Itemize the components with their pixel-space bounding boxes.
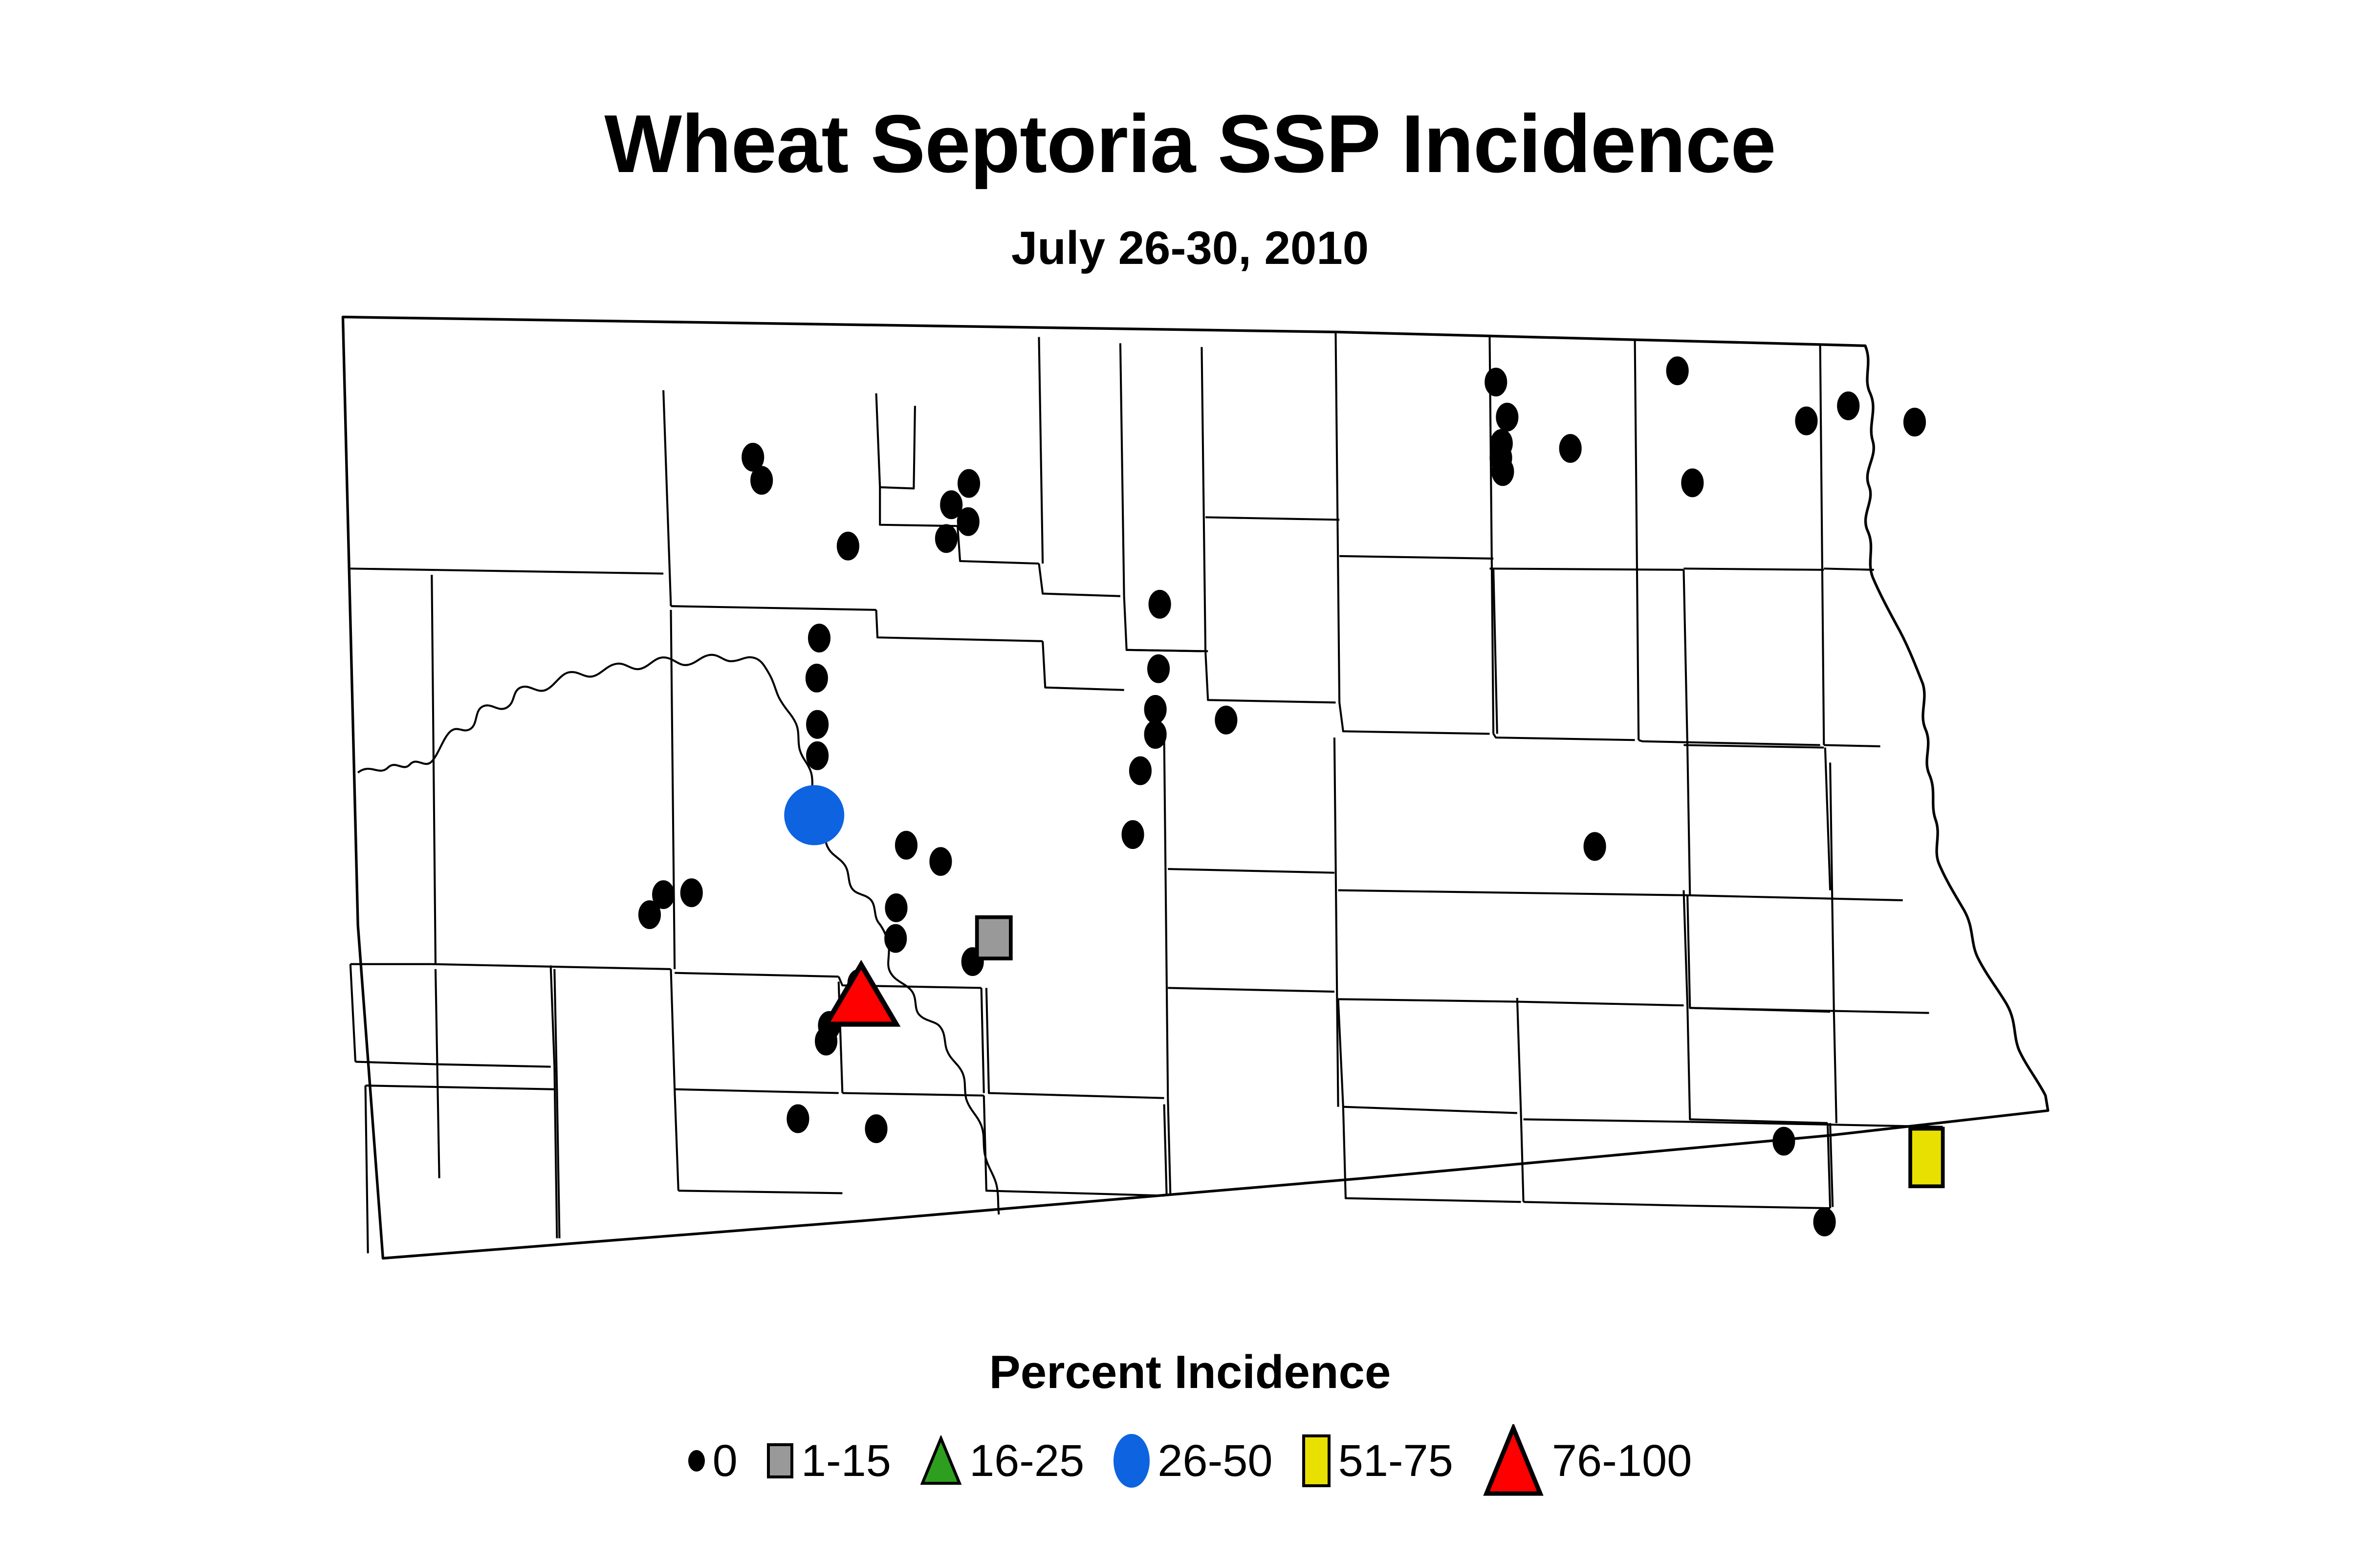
data-point-0 (1497, 403, 1518, 431)
data-point-0 (930, 848, 952, 875)
legend-label-16-25: 16-25 (969, 1438, 1084, 1483)
data-point-0 (1904, 409, 1925, 436)
data-point-0 (808, 624, 830, 651)
data-point-0 (1796, 407, 1817, 434)
yellow-square-icon (1302, 1434, 1331, 1487)
data-point-0 (958, 470, 980, 497)
legend-label-26-50: 26-50 (1157, 1438, 1272, 1483)
data-point-0 (806, 664, 828, 692)
legend-entry-26-50[interactable]: 26-50 (1114, 1434, 1272, 1488)
legend-entry-0[interactable]: 0 (688, 1438, 738, 1483)
legend: Percent Incidence 0 1-15 16-25 (0, 1349, 2380, 1497)
legend-label-76-100: 76-100 (1552, 1438, 1692, 1483)
data-point-0 (787, 1105, 809, 1132)
data-point-0 (639, 901, 660, 928)
red-triangle-icon (1483, 1424, 1544, 1497)
data-point-0 (815, 1027, 837, 1055)
map-figure: Wheat Septoria SSP Incidence July 26-30,… (0, 0, 2380, 1561)
data-point-0 (1130, 757, 1151, 784)
data-point-0 (895, 831, 917, 859)
legend-entry-1-15[interactable]: 1-15 (767, 1438, 891, 1483)
page-subtitle: July 26-30, 2010 (0, 225, 2380, 272)
data-point-0 (837, 532, 859, 560)
data-point-0 (1667, 357, 1688, 385)
data-point-0 (1145, 695, 1166, 723)
data-point-0 (1122, 821, 1144, 848)
legend-items: 0 1-15 16-25 26-50 51-75 (0, 1424, 2380, 1497)
data-point-0 (1682, 469, 1703, 497)
black-circle-icon (688, 1450, 705, 1472)
north-dakota-county-map[interactable] (313, 298, 2053, 1315)
legend-label-51-75: 51-75 (1338, 1438, 1453, 1483)
data-point-0 (1149, 590, 1171, 618)
data-point-51-75 (1910, 1128, 1943, 1186)
legend-entry-76-100[interactable]: 76-100 (1483, 1424, 1692, 1497)
data-point-0 (958, 508, 979, 535)
legend-entry-51-75[interactable]: 51-75 (1302, 1434, 1453, 1487)
data-point-0 (1145, 721, 1166, 748)
legend-title: Percent Incidence (0, 1349, 2380, 1396)
data-point-0 (807, 711, 828, 738)
gray-square-icon (767, 1443, 793, 1478)
data-point-0 (886, 894, 907, 921)
data-point-0 (885, 925, 906, 952)
data-point-0 (681, 879, 702, 907)
legend-label-0: 0 (713, 1438, 738, 1483)
data-point-0 (1584, 833, 1606, 860)
data-point-1-15 (977, 917, 1011, 959)
data-markers (639, 357, 1943, 1236)
legend-label-1-15: 1-15 (801, 1438, 891, 1483)
data-point-0 (1216, 706, 1237, 734)
data-point-0 (1814, 1208, 1835, 1236)
data-point-0 (1492, 458, 1514, 485)
data-point-0 (936, 525, 957, 552)
data-point-0 (807, 742, 828, 769)
data-point-26-50 (784, 785, 844, 845)
data-point-76-100 (826, 965, 896, 1024)
map-canvas (313, 298, 2053, 1315)
data-point-0 (1560, 434, 1581, 462)
data-point-0 (751, 467, 772, 494)
green-triangle-icon (920, 1435, 961, 1486)
data-point-0 (1837, 392, 1859, 419)
data-point-0 (1773, 1127, 1795, 1155)
legend-entry-16-25[interactable]: 16-25 (920, 1435, 1084, 1486)
data-point-0 (1148, 655, 1169, 682)
data-point-0 (866, 1115, 887, 1142)
county-boundaries (343, 317, 2048, 1258)
data-point-0 (1485, 369, 1507, 396)
blue-circle-icon (1114, 1434, 1150, 1488)
page-title: Wheat Septoria SSP Incidence (0, 103, 2380, 185)
